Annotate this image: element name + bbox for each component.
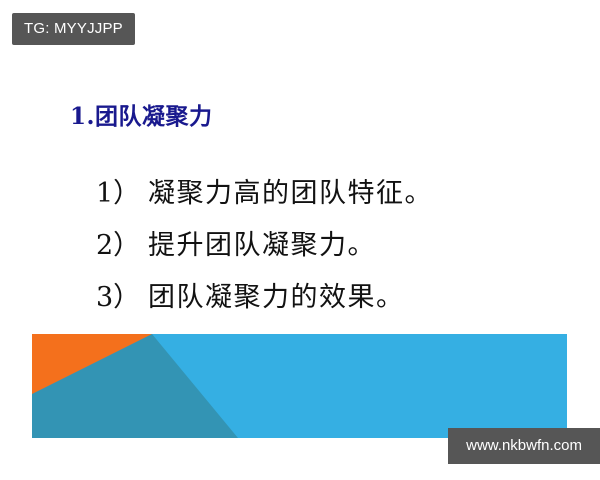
list-item: 3） 团队凝聚力的效果。 (96, 272, 526, 324)
list-item-label: 凝聚力高的团队特征。 (148, 168, 433, 220)
telegram-watermark: TG: MYYJJPP (12, 13, 135, 45)
list-item-marker: 1） (96, 168, 148, 220)
site-watermark: www.nkbwfn.com (448, 428, 600, 464)
list-item-marker: 3） (96, 272, 148, 324)
decorative-shapes (32, 334, 567, 438)
slide-canvas: TG: MYYJJPP 1.团队凝聚力 1） 凝聚力高的团队特征。 2） 提升团… (0, 0, 600, 480)
page-title: 1.团队凝聚力 (70, 103, 213, 131)
decorative-band: 3 (32, 334, 567, 438)
list-item-marker: 2） (96, 220, 148, 272)
list-item: 1） 凝聚力高的团队特征。 (96, 168, 526, 220)
list-item-label: 提升团队凝聚力。 (148, 220, 376, 272)
list-item-label: 团队凝聚力的效果。 (148, 272, 405, 324)
bullet-list: 1） 凝聚力高的团队特征。 2） 提升团队凝聚力。 3） 团队凝聚力的效果。 (96, 168, 526, 324)
list-item: 2） 提升团队凝聚力。 (96, 220, 526, 272)
